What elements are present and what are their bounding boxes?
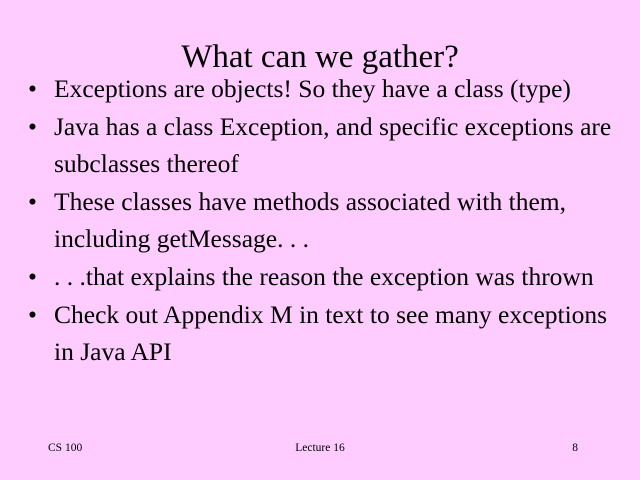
list-item-text: Java has a class Exception, and specific…	[54, 108, 618, 182]
list-item: • These classes have methods associated …	[22, 183, 618, 257]
bullet-dot-icon: •	[28, 183, 48, 220]
list-item-text: Check out Appendix M in text to see many…	[54, 296, 618, 370]
slide-canvas: What can we gather? • Exceptions are obj…	[0, 0, 640, 480]
bullet-dot-icon: •	[28, 70, 48, 107]
footer-page-number: 8	[572, 440, 578, 456]
list-item: • . . .that explains the reason the exce…	[22, 258, 618, 295]
bullet-dot-icon: •	[28, 108, 48, 145]
slide-footer: CS 100 Lecture 16 8	[0, 440, 640, 464]
list-item: • Java has a class Exception, and specif…	[22, 108, 618, 182]
list-item: • Check out Appendix M in text to see ma…	[22, 296, 618, 370]
list-item: • Exceptions are objects! So they have a…	[22, 70, 618, 107]
bullet-dot-icon: •	[28, 258, 48, 295]
footer-lecture-label: Lecture 16	[0, 440, 640, 456]
list-item-text: Exceptions are objects! So they have a c…	[54, 70, 618, 107]
bullet-dot-icon: •	[28, 296, 48, 333]
list-item-text: These classes have methods associated wi…	[54, 183, 618, 257]
list-item-text: . . .that explains the reason the except…	[54, 258, 618, 295]
bullet-list: • Exceptions are objects! So they have a…	[22, 70, 618, 371]
